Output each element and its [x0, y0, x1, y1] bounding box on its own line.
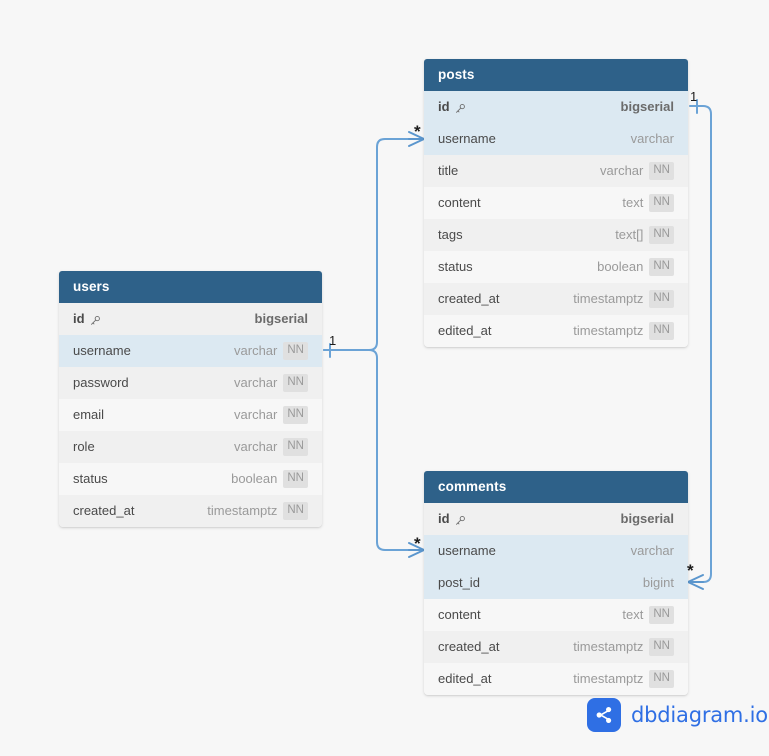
field-name-label: password: [73, 367, 129, 399]
table-header-users[interactable]: users: [59, 271, 322, 303]
field-row-comments-id[interactable]: idbigserial: [424, 503, 688, 535]
cardinality-many-comments-username: *: [414, 535, 421, 552]
cardinality-many-comments-post-id: *: [687, 562, 694, 579]
not-null-badge: NN: [649, 226, 674, 244]
field-type-label: varchar: [234, 367, 277, 399]
field-row-users-password[interactable]: passwordvarcharNN: [59, 367, 322, 399]
field-type-label: timestamptz: [573, 631, 643, 663]
not-null-badge: NN: [283, 470, 308, 488]
field-row-comments-content[interactable]: contenttextNN: [424, 599, 688, 631]
field-type-label: varchar: [234, 399, 277, 431]
not-null-badge: NN: [649, 638, 674, 656]
not-null-badge: NN: [283, 438, 308, 456]
field-name-label: username: [438, 535, 496, 567]
not-null-badge: NN: [649, 258, 674, 276]
field-type-label: varchar: [234, 431, 277, 463]
field-name-label: created_at: [73, 495, 134, 527]
field-row-comments-edited_at[interactable]: edited_attimestamptzNN: [424, 663, 688, 695]
field-row-posts-edited_at[interactable]: edited_attimestamptzNN: [424, 315, 688, 347]
field-type-label: bigserial: [621, 503, 674, 535]
field-name-label: title: [438, 155, 458, 187]
field-row-posts-title[interactable]: titlevarcharNN: [424, 155, 688, 187]
table-header-posts[interactable]: posts: [424, 59, 688, 91]
field-type-label: boolean: [597, 251, 643, 283]
field-name-label: post_id: [438, 567, 480, 599]
field-row-posts-content[interactable]: contenttextNN: [424, 187, 688, 219]
not-null-badge: NN: [649, 290, 674, 308]
cardinality-one-posts-id: 1: [690, 90, 697, 103]
field-type-label: timestamptz: [573, 315, 643, 347]
field-name-label: content: [438, 187, 481, 219]
not-null-badge: NN: [649, 162, 674, 180]
field-type-label: varchar: [631, 535, 674, 567]
table-users[interactable]: usersidbigserialusernamevarcharNNpasswor…: [59, 271, 322, 527]
field-type-label: varchar: [234, 335, 277, 367]
field-type-label: boolean: [231, 463, 277, 495]
field-name-label: username: [73, 335, 131, 367]
field-row-users-created_at[interactable]: created_attimestamptzNN: [59, 495, 322, 527]
field-row-posts-created_at[interactable]: created_attimestamptzNN: [424, 283, 688, 315]
not-null-badge: NN: [649, 606, 674, 624]
field-type-label: timestamptz: [573, 283, 643, 315]
table-header-comments[interactable]: comments: [424, 471, 688, 503]
field-name-label: created_at: [438, 283, 499, 315]
field-type-label: timestamptz: [207, 495, 277, 527]
field-row-users-email[interactable]: emailvarcharNN: [59, 399, 322, 431]
not-null-badge: NN: [283, 502, 308, 520]
field-name-label: edited_at: [438, 315, 492, 347]
field-row-users-username[interactable]: usernamevarcharNN: [59, 335, 322, 367]
field-name-label: content: [438, 599, 481, 631]
diagram-canvas[interactable]: usersidbigserialusernamevarcharNNpasswor…: [0, 0, 769, 756]
relationship-line-users-comments: [324, 350, 418, 550]
field-name-label: edited_at: [438, 663, 492, 695]
field-name-label: role: [73, 431, 95, 463]
cardinality-many-posts-username: *: [414, 123, 421, 140]
field-type-label: varchar: [631, 123, 674, 155]
field-name-label: tags: [438, 219, 463, 251]
field-type-label: varchar: [600, 155, 643, 187]
table-posts[interactable]: postsidbigserialusernamevarchartitlevarc…: [424, 59, 688, 347]
field-name-label: id: [438, 503, 450, 535]
key-icon: [455, 515, 466, 526]
field-name-label: status: [73, 463, 108, 495]
field-name-label: created_at: [438, 631, 499, 663]
field-type-label: text: [622, 187, 643, 219]
field-type-label: timestamptz: [573, 663, 643, 695]
key-icon: [90, 315, 101, 326]
not-null-badge: NN: [649, 194, 674, 212]
field-name-label: id: [438, 91, 450, 123]
share-nodes-icon: [587, 698, 621, 732]
field-name-label: id: [73, 303, 85, 335]
not-null-badge: NN: [649, 322, 674, 340]
field-type-label: text: [622, 599, 643, 631]
relationship-line-users-posts: [324, 139, 418, 350]
table-comments[interactable]: commentsidbigserialusernamevarcharpost_i…: [424, 471, 688, 695]
field-row-users-status[interactable]: statusbooleanNN: [59, 463, 322, 495]
field-row-comments-username[interactable]: usernamevarchar: [424, 535, 688, 567]
field-row-users-id[interactable]: idbigserial: [59, 303, 322, 335]
dbdiagram-brand[interactable]: dbdiagram.io: [587, 698, 768, 732]
field-row-posts-tags[interactable]: tagstext[]NN: [424, 219, 688, 251]
field-row-users-role[interactable]: rolevarcharNN: [59, 431, 322, 463]
field-row-posts-id[interactable]: idbigserial: [424, 91, 688, 123]
field-type-label: bigserial: [255, 303, 308, 335]
not-null-badge: NN: [649, 670, 674, 688]
field-type-label: bigint: [643, 567, 674, 599]
field-type-label: bigserial: [621, 91, 674, 123]
field-row-comments-post_id[interactable]: post_idbigint: [424, 567, 688, 599]
not-null-badge: NN: [283, 406, 308, 424]
not-null-badge: NN: [283, 342, 308, 360]
field-name-label: username: [438, 123, 496, 155]
relationship-line-posts-comments: [690, 106, 711, 582]
field-name-label: email: [73, 399, 104, 431]
key-icon: [455, 103, 466, 114]
not-null-badge: NN: [283, 374, 308, 392]
cardinality-one-users-username: 1: [329, 334, 336, 347]
field-row-posts-status[interactable]: statusbooleanNN: [424, 251, 688, 283]
field-row-posts-username[interactable]: usernamevarchar: [424, 123, 688, 155]
field-name-label: status: [438, 251, 473, 283]
field-type-label: text[]: [615, 219, 643, 251]
brand-label: dbdiagram.io: [631, 703, 768, 727]
field-row-comments-created_at[interactable]: created_attimestamptzNN: [424, 631, 688, 663]
